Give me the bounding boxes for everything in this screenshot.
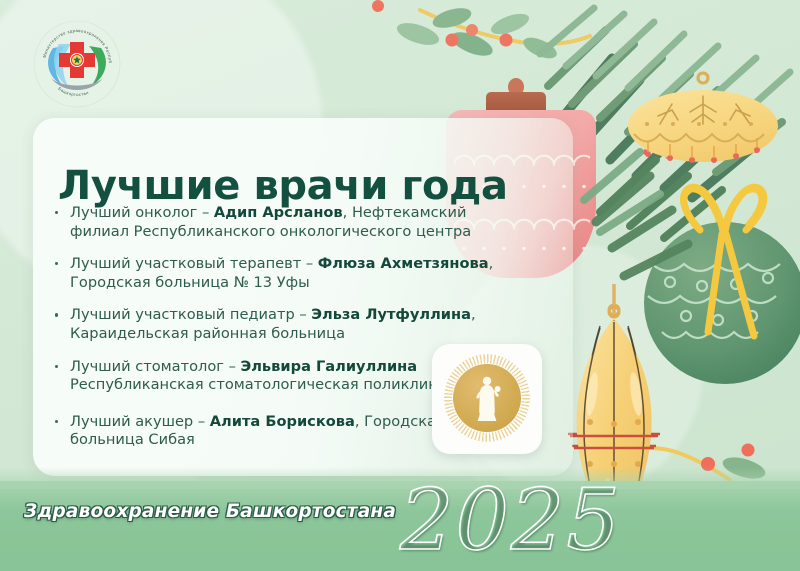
holly-sprig-top: [372, 0, 590, 63]
holiday-poster: Лучшие врачи года Лучший онколог – Адип …: [0, 0, 800, 571]
award-prefix: Лучший онколог –: [70, 204, 214, 221]
award-name: Эльза Лутфуллина: [311, 306, 471, 323]
bullet-icon: [55, 313, 58, 316]
year-label: 2025: [400, 471, 622, 569]
bullet-icon: [55, 365, 58, 368]
list-item: Лучший участковый терапевт – Флюза Ахмет…: [52, 255, 504, 292]
award-name: Флюза Ахметзянова: [318, 255, 489, 272]
award-name: Эльвира Галиуллина: [241, 358, 418, 375]
green-ball-ornament: [644, 222, 800, 384]
award-name: Адип Арсланов: [214, 204, 343, 221]
award-name: Алита Борискова: [210, 413, 355, 430]
award-suffix: Республиканская стоматологическая поликл…: [70, 376, 465, 393]
ministry-logo: Министерство здравоохранения Республики …: [33, 20, 121, 108]
yellow-flat-ornament: [628, 90, 778, 162]
list-item: Лучший участковый педиатр – Эльза Лутфул…: [52, 306, 504, 343]
list-item: Лучший онколог – Адип Арсланов, Нефтекам…: [52, 204, 504, 241]
award-medal-card: [432, 344, 542, 454]
award-prefix: Лучший акушер –: [70, 413, 210, 430]
medal-disc: [453, 364, 521, 432]
bullet-icon: [55, 211, 58, 214]
footer-caption: Здравоохранение Башкортостана: [24, 501, 396, 522]
award-prefix: Лучший стоматолог –: [70, 358, 241, 375]
page-title: Лучшие врачи года: [58, 163, 508, 209]
award-prefix: Лучший участковый педиатр –: [70, 306, 311, 323]
bullet-icon: [55, 262, 58, 265]
statuette-silhouette-icon: [472, 375, 502, 425]
award-prefix: Лучший участковый терапевт –: [70, 255, 318, 272]
bullet-icon: [55, 420, 58, 423]
